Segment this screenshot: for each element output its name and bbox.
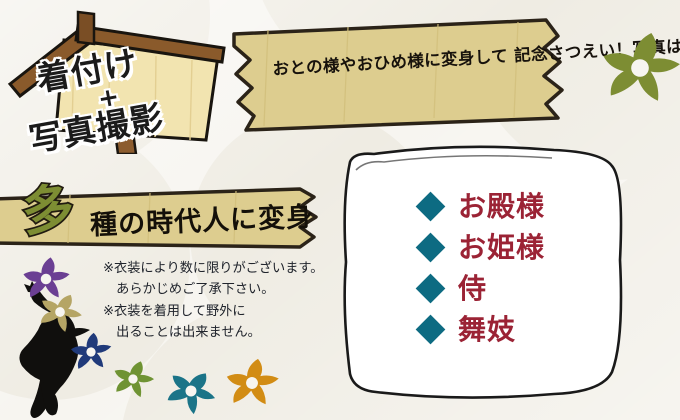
costume-label: お姫様	[458, 234, 545, 262]
signboard-finial	[78, 12, 94, 44]
costume-label: お殿様	[458, 193, 545, 221]
costume-label: 舞妓	[458, 316, 516, 344]
list-item[interactable]: お姫様	[418, 227, 638, 268]
transform-ribbon: 多 種の時代人に変身	[0, 183, 368, 255]
list-item[interactable]: 舞妓	[418, 309, 638, 350]
shuriken-icon-navy	[67, 328, 114, 375]
kitsuke-photo-signboard: 着付け + 写真撮影	[6, 4, 236, 154]
costume-list: お殿様 お姫様 侍 舞妓	[418, 186, 638, 350]
headline-ribbon: おとの様やおひめ様に変身して 記念さつえい！写真はその場で すぐにおわたしいたし…	[228, 18, 600, 136]
list-item[interactable]: お殿様	[418, 186, 638, 227]
disclaimer-notes: ※衣装により数に限りがございます。 あらかじめご了承下さい。 ※衣装を着用して野…	[103, 258, 338, 344]
diamond-bullet-icon	[416, 274, 446, 304]
costume-label: 侍	[458, 275, 487, 303]
poster-canvas: 着付け + 写真撮影 おとの様やおひめ様に変身して 記念さつえい！写真はその場で…	[0, 0, 680, 420]
list-item[interactable]: 侍	[418, 268, 638, 309]
costume-list-panel: お殿様 お姫様 侍 舞妓	[340, 140, 640, 405]
diamond-bullet-icon	[416, 192, 446, 222]
diamond-bullet-icon	[416, 233, 446, 263]
diamond-bullet-icon	[416, 315, 446, 345]
transform-kanji: 多	[19, 182, 77, 240]
